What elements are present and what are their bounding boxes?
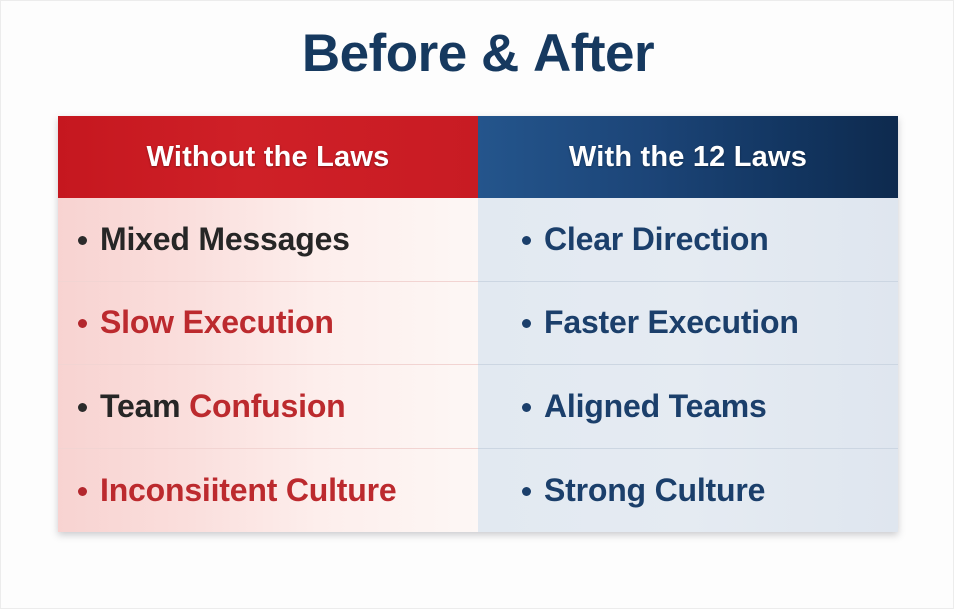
bullet-icon	[522, 403, 531, 412]
cell-without-laws-2: Slow Execution	[58, 282, 478, 366]
cell-with-laws-1: Clear Direction	[478, 198, 898, 282]
table-row: Mixed Messages Clear Direction	[58, 198, 898, 282]
cell-with-laws-4: Strong Culture	[478, 449, 898, 533]
header-label-right: With the 12 Laws	[569, 141, 807, 174]
table-row: Inconsiitent Culture Strong Culture	[58, 449, 898, 533]
item-label-left-3-part-b: Confusion	[189, 388, 345, 424]
bullet-icon	[522, 487, 531, 496]
cell-with-laws-2: Faster Execution	[478, 282, 898, 366]
cell-without-laws-3: Team Confusion	[58, 365, 478, 449]
comparison-table: Without the Laws With the 12 Laws Mixed …	[58, 116, 898, 532]
item-label-left-1: Mixed Messages	[100, 221, 350, 258]
table-row: Slow Execution Faster Execution	[58, 282, 898, 366]
item-label-right-2: Faster Execution	[544, 304, 799, 341]
item-label-right-3: Aligned Teams	[544, 388, 767, 425]
header-cell-without-laws: Without the Laws	[58, 116, 478, 198]
item-label-right-1: Clear Direction	[544, 221, 769, 258]
bullet-icon	[522, 236, 531, 245]
cell-with-laws-3: Aligned Teams	[478, 365, 898, 449]
bullet-icon	[78, 319, 87, 328]
title-ampersand: &	[481, 24, 519, 83]
table-row: Team Confusion Aligned Teams	[58, 365, 898, 449]
item-label-left-2: Slow Execution	[100, 304, 334, 341]
cell-without-laws-4: Inconsiitent Culture	[58, 449, 478, 533]
table-header-row: Without the Laws With the 12 Laws	[58, 116, 898, 198]
item-label-right-4: Strong Culture	[544, 472, 765, 509]
header-cell-with-laws: With the 12 Laws	[478, 116, 898, 198]
bullet-icon	[522, 319, 531, 328]
item-label-left-3-part-a: Team	[100, 388, 189, 424]
bullet-icon	[78, 236, 87, 245]
header-label-left: Without the Laws	[147, 141, 390, 174]
page-title: Before & After	[1, 23, 954, 84]
title-word-after: After	[533, 24, 654, 83]
title-word-before: Before	[302, 24, 467, 83]
bullet-icon	[78, 403, 87, 412]
cell-without-laws-1: Mixed Messages	[58, 198, 478, 282]
bullet-icon	[78, 487, 87, 496]
item-label-left-3: Team Confusion	[100, 388, 346, 425]
item-label-left-4: Inconsiitent Culture	[100, 472, 396, 509]
slide-canvas: Before & After Without the Laws With the…	[0, 0, 954, 609]
